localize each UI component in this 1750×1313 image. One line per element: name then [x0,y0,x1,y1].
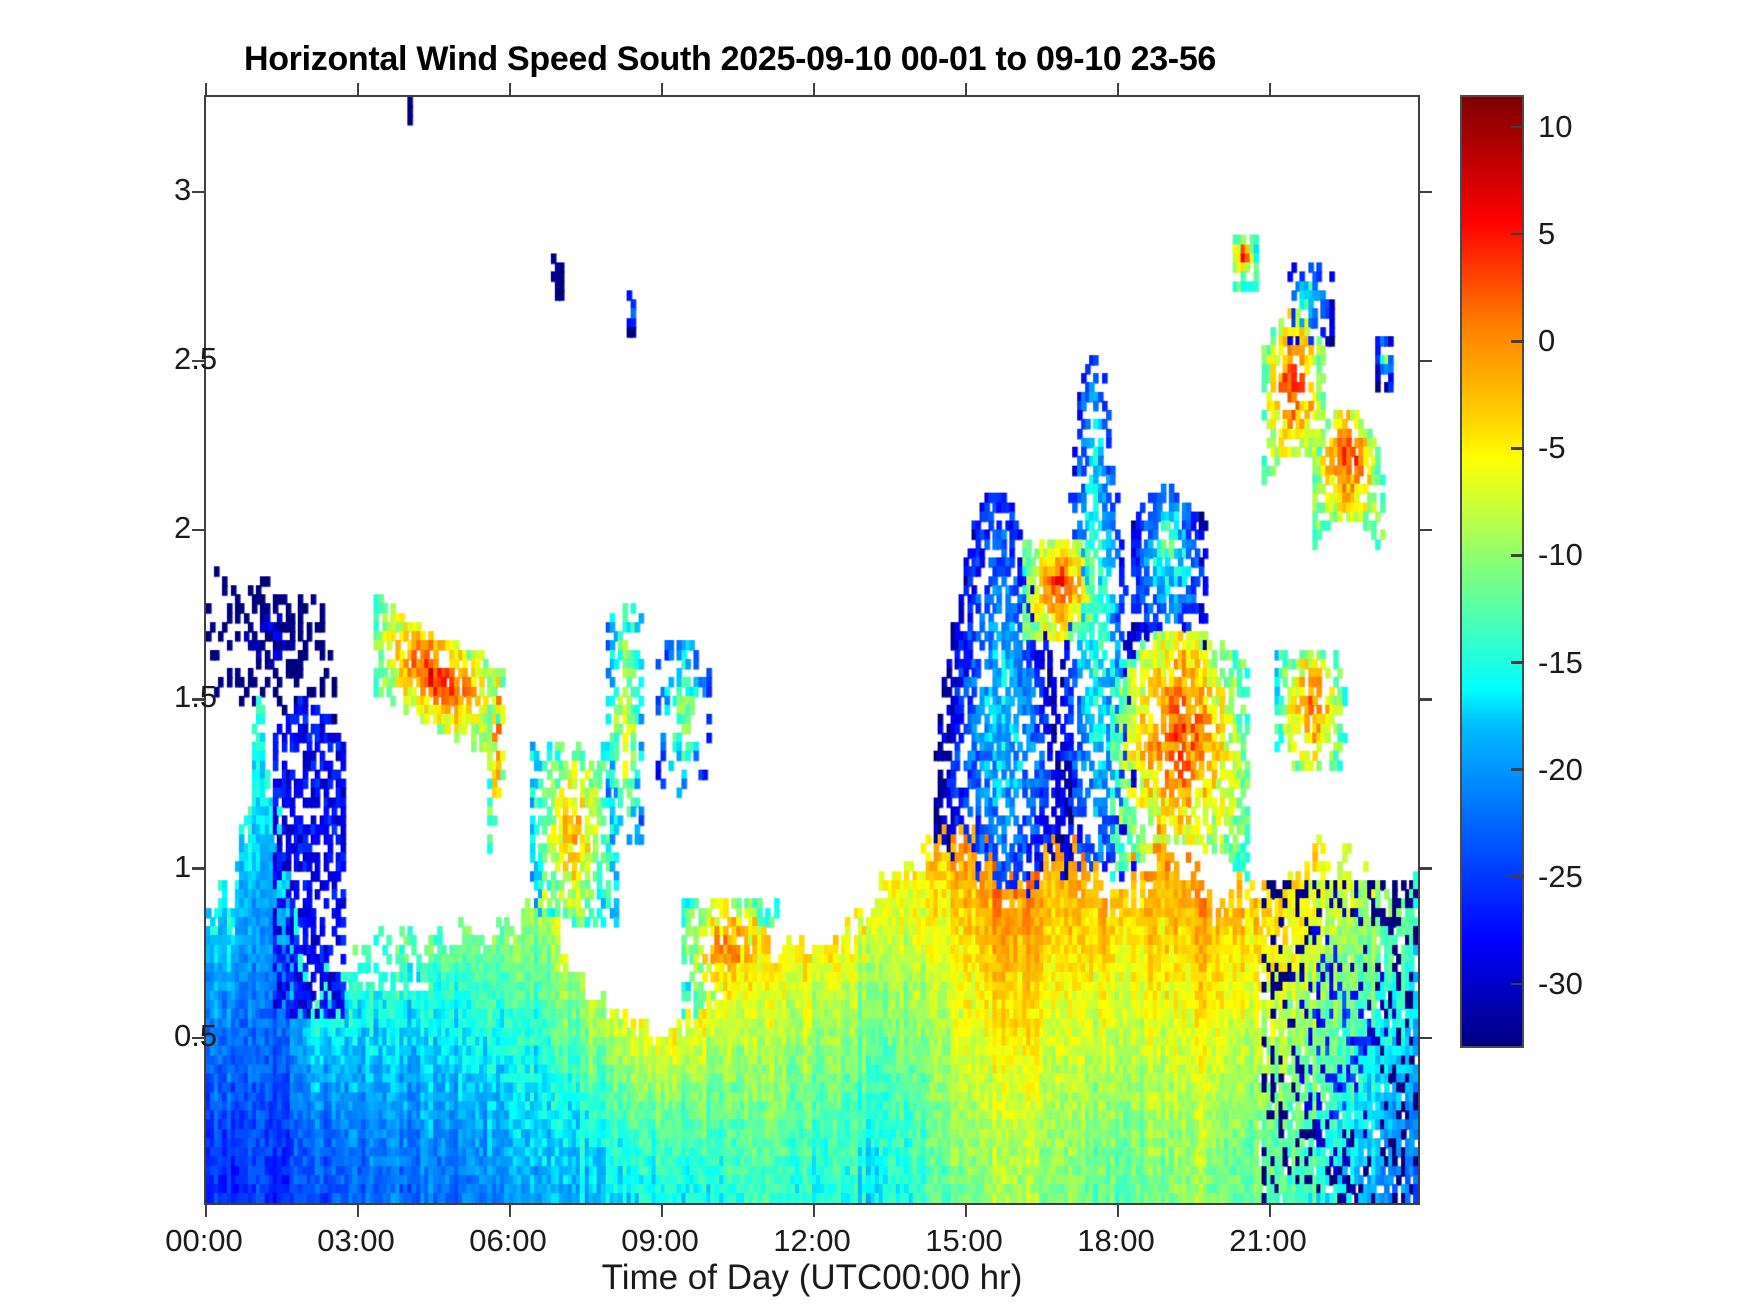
colorbar-tick-label: 0 [1538,323,1555,359]
x-tick-label: 09:00 [621,1223,699,1259]
colorbar-tick-label: -15 [1538,645,1583,681]
colorbar-tick [1511,983,1524,986]
heatmap-canvas [206,97,1418,1203]
colorbar-tick-label: -25 [1538,859,1583,895]
colorbar [1460,95,1524,1048]
colorbar-tick-label: 5 [1538,216,1555,252]
colorbar-tick [1511,447,1524,450]
y-tick [1418,529,1432,532]
x-tick-label: 15:00 [925,1223,1003,1259]
x-tick [509,1203,512,1217]
colorbar-tick [1511,340,1524,343]
y-tick [192,191,206,194]
colorbar-tick-label: -10 [1538,537,1583,573]
colorbar-title: Wind Speed, m/s [1594,0,1634,95]
y-tick [1418,867,1432,870]
x-tick [357,83,360,97]
y-tick [1418,360,1432,363]
y-tick [192,529,206,532]
x-tick [205,83,208,97]
x-tick [965,83,968,97]
x-tick-label: 00:00 [165,1223,243,1259]
x-tick-label: 18:00 [1077,1223,1155,1259]
x-tick [1117,1203,1120,1217]
plot-area [204,95,1420,1205]
wind-speed-timeheight-figure: Horizontal Wind Speed South 2025-09-10 0… [0,0,1750,1313]
x-tick [1269,1203,1272,1217]
colorbar-title-wrap: Wind Speed, m/s [1640,95,1684,1048]
y-tick [1418,191,1432,194]
colorbar-tick [1511,875,1524,878]
colorbar-tick-label: -30 [1538,966,1583,1002]
colorbar-tick [1511,661,1524,664]
y-tick [1418,698,1432,701]
x-tick-label: 12:00 [773,1223,851,1259]
y-tick [1418,1037,1432,1040]
x-tick-label: 06:00 [469,1223,547,1259]
colorbar-gradient [1462,97,1522,1046]
colorbar-tick [1511,233,1524,236]
x-tick [661,1203,664,1217]
x-tick [357,1203,360,1217]
x-tick-label: 03:00 [317,1223,395,1259]
x-tick [813,83,816,97]
x-tick [813,1203,816,1217]
colorbar-tick [1511,554,1524,557]
colorbar-tick-label: -5 [1538,430,1566,466]
x-tick [965,1203,968,1217]
colorbar-tick [1511,126,1524,129]
colorbar-tick-label: -20 [1538,752,1583,788]
x-axis-title: Time of Day (UTC00:00 hr) [204,1258,1420,1298]
colorbar-tick [1511,768,1524,771]
x-tick [205,1203,208,1217]
x-tick [1117,83,1120,97]
x-tick [509,83,512,97]
x-tick-label: 21:00 [1229,1223,1307,1259]
colorbar-tick-label: 10 [1538,109,1572,145]
x-tick [661,83,664,97]
chart-title: Horizontal Wind Speed South 2025-09-10 0… [0,40,1460,79]
y-axis-title-wrap: Distance (km) [62,95,106,1205]
y-tick [192,867,206,870]
x-tick [1269,83,1272,97]
